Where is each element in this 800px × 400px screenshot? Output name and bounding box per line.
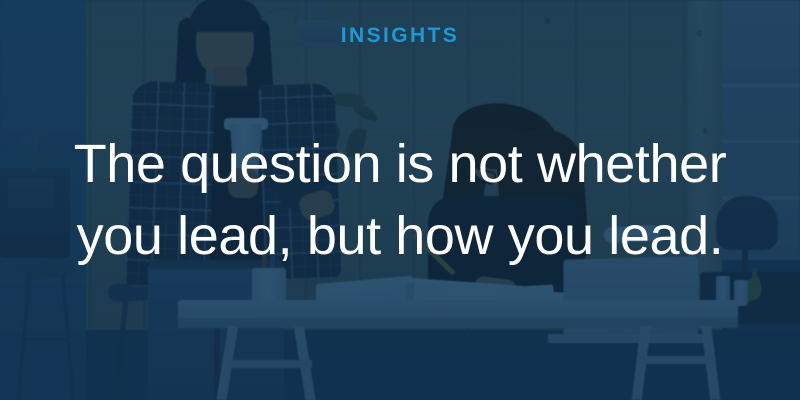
eyebrow-label: INSIGHTS (0, 25, 800, 46)
headline-line-1: The question is not whether (34, 128, 766, 200)
insights-quote-banner: INSIGHTS The question is not whether you… (0, 0, 800, 400)
banner-content: INSIGHTS The question is not whether you… (0, 0, 800, 400)
quote-headline: The question is not whether you lead, bu… (0, 128, 800, 273)
headline-line-2: you lead, but how you lead. (34, 200, 766, 272)
